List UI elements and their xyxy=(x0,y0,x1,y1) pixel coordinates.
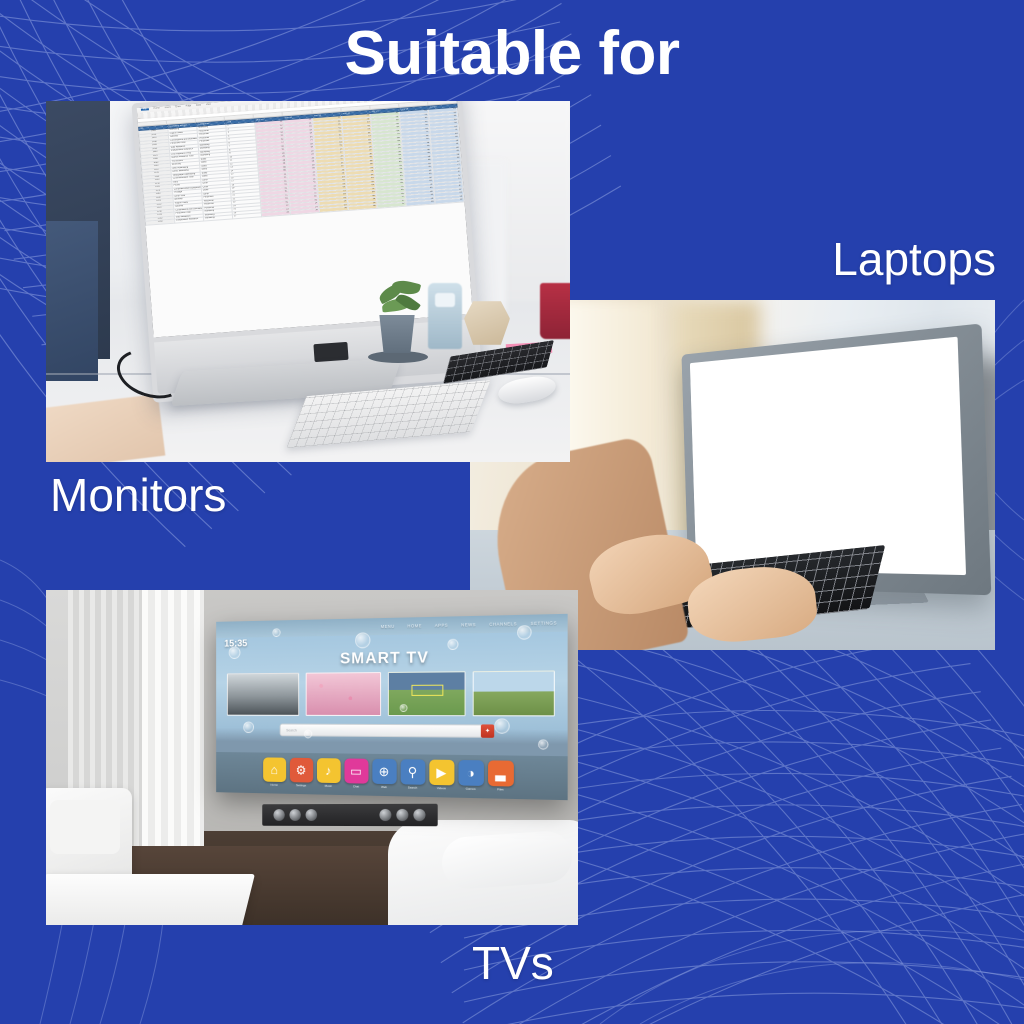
tv-app-settings[interactable]: ⚙Settings xyxy=(289,758,312,788)
speaker-driver xyxy=(306,809,317,821)
folder-icon[interactable]: ▃ xyxy=(488,760,514,786)
pillow xyxy=(440,830,573,891)
laptop-screen-blank xyxy=(690,337,966,575)
tv-app-music[interactable]: ♪Music xyxy=(316,758,340,788)
tv-app-search[interactable]: ⚲Search xyxy=(400,759,425,790)
ribbon-tab-view: View xyxy=(206,104,211,106)
video-icon[interactable]: ▶ xyxy=(429,760,454,786)
smart-tv-interface: MENUHOMEAPPSNEWSCHANNELSSETTINGS 15:35 S… xyxy=(216,614,567,800)
coffee-table xyxy=(46,874,255,925)
tv-menu-item[interactable]: HOME xyxy=(407,623,421,628)
water-droplet xyxy=(243,721,254,733)
ribbon-tab-file: File xyxy=(141,108,149,111)
ribbon-tab-home: Home xyxy=(154,107,160,109)
gamepad-icon[interactable]: ◑ xyxy=(458,760,483,786)
monitor-screen-spreadsheet: File Home Insert Draw Page Data View xyxy=(137,101,473,337)
gear-icon[interactable]: ⚙ xyxy=(289,758,312,783)
ribbon-tab-data: Data xyxy=(196,104,201,106)
chat-icon[interactable]: ▭ xyxy=(344,758,368,783)
tv-menu-item[interactable]: SETTINGS xyxy=(531,620,557,626)
caption-tvs: TVs xyxy=(472,936,554,990)
speaker-driver xyxy=(396,809,408,821)
tv-app-label: Home xyxy=(263,783,286,787)
tv-app-web[interactable]: ⊕Web xyxy=(372,759,396,789)
spreadsheet-cell: 1260 xyxy=(146,219,175,225)
tv-app-label: Games xyxy=(458,786,483,791)
tv-menu-item[interactable]: NEWS xyxy=(461,622,476,627)
speaker-driver xyxy=(289,809,300,821)
wall-panel-secondary xyxy=(46,221,98,381)
water-droplet xyxy=(229,646,241,659)
water-droplet xyxy=(400,704,408,712)
tv-app-label: Settings xyxy=(289,783,312,787)
tv-tile-blossom[interactable] xyxy=(305,672,380,716)
tv-menu-item[interactable]: APPS xyxy=(435,623,448,628)
wall-mounted-tv: MENUHOMEAPPSNEWSCHANNELSSETTINGS 15:35 S… xyxy=(216,614,567,800)
tv-app-label: Music xyxy=(316,784,340,788)
tv-app-label: Web xyxy=(372,785,396,789)
tv-app-label: Search xyxy=(400,785,425,790)
caption-monitors: Monitors xyxy=(50,468,226,522)
tv-app-label: Videos xyxy=(429,786,454,791)
ribbon-tab-insert: Insert xyxy=(165,107,171,109)
spreadsheet-cell: 27 xyxy=(232,213,261,219)
tv-tile-countryside[interactable] xyxy=(473,670,555,716)
tv-app-videos[interactable]: ▶Videos xyxy=(429,760,454,791)
globe-icon[interactable]: ⊕ xyxy=(372,759,396,784)
tv-app-games[interactable]: ◑Games xyxy=(458,760,483,791)
water-droplet xyxy=(494,718,510,734)
desktop-monitor: File Home Insert Draw Page Data View xyxy=(131,101,482,403)
tv-app-home[interactable]: ⌂Home xyxy=(263,757,286,787)
search-icon[interactable]: ⚲ xyxy=(400,759,425,785)
photo-tvs: MENUHOMEAPPSNEWSCHANNELSSETTINGS 15:35 S… xyxy=(46,590,578,925)
tv-brand-label: SMART TV xyxy=(216,647,567,669)
tv-app-dock: ⌂Home⚙Settings♪Music▭Chat⊕Web⚲Search▶Vid… xyxy=(216,752,567,800)
water-droplet xyxy=(355,632,370,648)
water-droplet xyxy=(304,730,312,739)
tv-tile-landscape[interactable] xyxy=(227,673,299,716)
tv-search-button-icon[interactable]: ✦ xyxy=(481,724,494,737)
spreadsheet-cell: 34 xyxy=(290,209,319,215)
water-droplet xyxy=(538,739,549,750)
photo-monitors: File Home Insert Draw Page Data View xyxy=(46,101,570,462)
caption-laptops: Laptops xyxy=(832,232,996,286)
music-icon[interactable]: ♪ xyxy=(316,758,340,783)
tv-menu-item[interactable]: CHANNELS xyxy=(489,621,517,627)
tv-content-tiles xyxy=(227,670,555,716)
tv-app-label: Chat xyxy=(344,784,368,788)
page-title: Suitable for xyxy=(0,18,1024,89)
spreadsheet-cell: 33 xyxy=(261,211,290,217)
tv-app-label: Files xyxy=(488,787,514,792)
spreadsheet-cell: 38 xyxy=(406,200,435,206)
water-droplet xyxy=(517,625,532,640)
ribbon-tab-draw: Draw xyxy=(175,106,181,108)
speaker-driver xyxy=(273,809,284,821)
curtain-sheer xyxy=(142,590,204,848)
monitor-bezel: File Home Insert Draw Page Data View xyxy=(137,101,473,337)
spreadsheet-cell: 37 xyxy=(377,202,406,208)
monitor-stand-neck xyxy=(313,342,348,362)
speaker-driver xyxy=(379,809,391,821)
ribbon-tab-page: Page xyxy=(186,105,192,107)
spreadsheet-cell: 35 xyxy=(319,206,348,212)
tv-menu-item[interactable]: MENU xyxy=(381,624,395,629)
tv-app-chat[interactable]: ▭Chat xyxy=(344,758,368,788)
speaker-driver xyxy=(413,809,425,821)
water-droplet xyxy=(447,639,458,650)
spreadsheet-cell: 39 xyxy=(435,198,464,204)
home-icon[interactable]: ⌂ xyxy=(263,757,286,782)
spreadsheet-cell: 36 xyxy=(348,204,377,210)
robot-figurine xyxy=(428,283,462,349)
red-cup xyxy=(540,283,570,339)
tv-app-files[interactable]: ▃Files xyxy=(488,760,514,791)
tv-soundbar xyxy=(262,804,437,827)
